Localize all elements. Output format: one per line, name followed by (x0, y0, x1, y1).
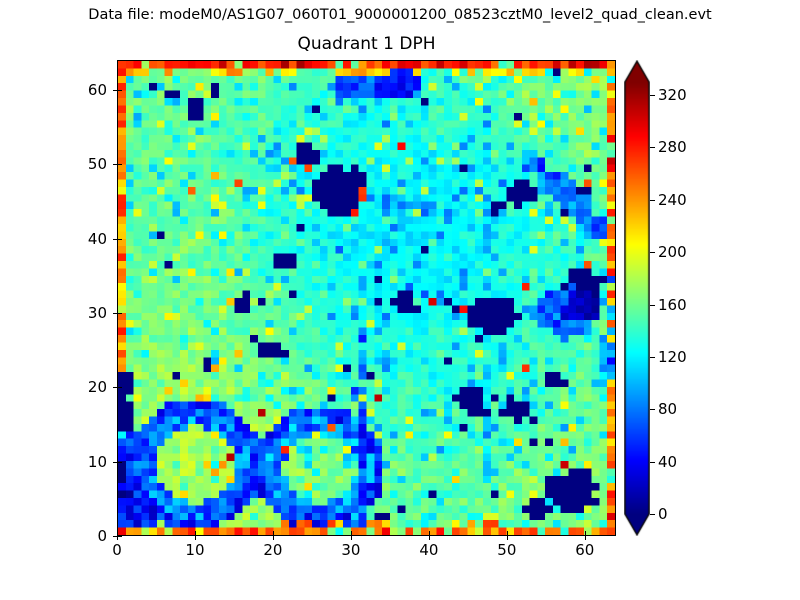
colorbar-tick-mark (650, 200, 655, 201)
y-tick-mark (113, 164, 117, 165)
y-tick-label: 0 (55, 527, 107, 545)
colorbar-tick-mark (650, 95, 655, 96)
colorbar-tick-mark (650, 409, 655, 410)
x-tick-label: 40 (399, 541, 459, 559)
x-tick-label: 50 (477, 541, 537, 559)
x-tick-mark-inner (351, 531, 352, 535)
y-tick-label: 60 (55, 81, 107, 99)
y-tick-mark (113, 239, 117, 240)
x-tick-mark (195, 536, 196, 540)
colorbar-tick-label: 80 (658, 400, 677, 418)
colorbar-tick-label: 120 (658, 348, 687, 366)
y-tick-mark-inner (118, 90, 122, 91)
figure-canvas: Data file: modeM0/AS1G07_060T01_90000012… (0, 0, 800, 600)
colorbar-tick-mark (650, 305, 655, 306)
colorbar-tick-label: 0 (658, 505, 668, 523)
x-tick-label: 10 (165, 541, 225, 559)
colorbar[interactable] (624, 60, 650, 536)
colorbar-tick-label: 280 (658, 138, 687, 156)
y-tick-label: 40 (55, 230, 107, 248)
x-tick-label: 60 (555, 541, 615, 559)
x-tick-label: 30 (321, 541, 381, 559)
colorbar-tick-mark (650, 252, 655, 253)
colorbar-tick-label: 240 (658, 191, 687, 209)
colorbar-tick-mark (650, 462, 655, 463)
colorbar-tick-mark (650, 147, 655, 148)
y-tick-label: 30 (55, 304, 107, 322)
y-tick-mark (113, 387, 117, 388)
y-tick-mark-inner (118, 164, 122, 165)
colorbar-tick-label: 200 (658, 243, 687, 261)
x-tick-label: 20 (243, 541, 303, 559)
heatmap-image[interactable] (118, 61, 615, 535)
y-tick-mark-inner (118, 239, 122, 240)
heatmap-axes[interactable] (117, 60, 616, 536)
y-tick-mark (113, 90, 117, 91)
x-tick-mark-inner (507, 531, 508, 535)
y-tick-mark-inner (118, 462, 122, 463)
y-tick-mark (113, 536, 117, 537)
y-tick-label: 10 (55, 453, 107, 471)
y-tick-mark (113, 313, 117, 314)
y-tick-mark-inner (118, 313, 122, 314)
x-tick-mark-inner (585, 531, 586, 535)
y-tick-label: 50 (55, 155, 107, 173)
x-tick-mark-inner (429, 531, 430, 535)
y-tick-label: 20 (55, 378, 107, 396)
x-tick-mark (585, 536, 586, 540)
colorbar-tick-mark (650, 357, 655, 358)
x-tick-mark (429, 536, 430, 540)
x-tick-mark-inner (195, 531, 196, 535)
colorbar-tick-mark (650, 514, 655, 515)
colorbar-gradient[interactable] (624, 60, 650, 536)
y-tick-mark-inner (118, 536, 122, 537)
y-tick-mark-inner (118, 387, 122, 388)
x-tick-mark-inner (117, 531, 118, 535)
colorbar-tick-label: 160 (658, 296, 687, 314)
data-file-suptitle: Data file: modeM0/AS1G07_060T01_90000012… (0, 5, 800, 25)
x-tick-mark-inner (273, 531, 274, 535)
y-tick-mark (113, 462, 117, 463)
page-title: Quadrant 1 DPH (117, 33, 616, 55)
x-tick-mark (273, 536, 274, 540)
x-tick-mark (351, 536, 352, 540)
x-tick-mark (507, 536, 508, 540)
colorbar-tick-label: 40 (658, 453, 677, 471)
colorbar-tick-label: 320 (658, 86, 687, 104)
